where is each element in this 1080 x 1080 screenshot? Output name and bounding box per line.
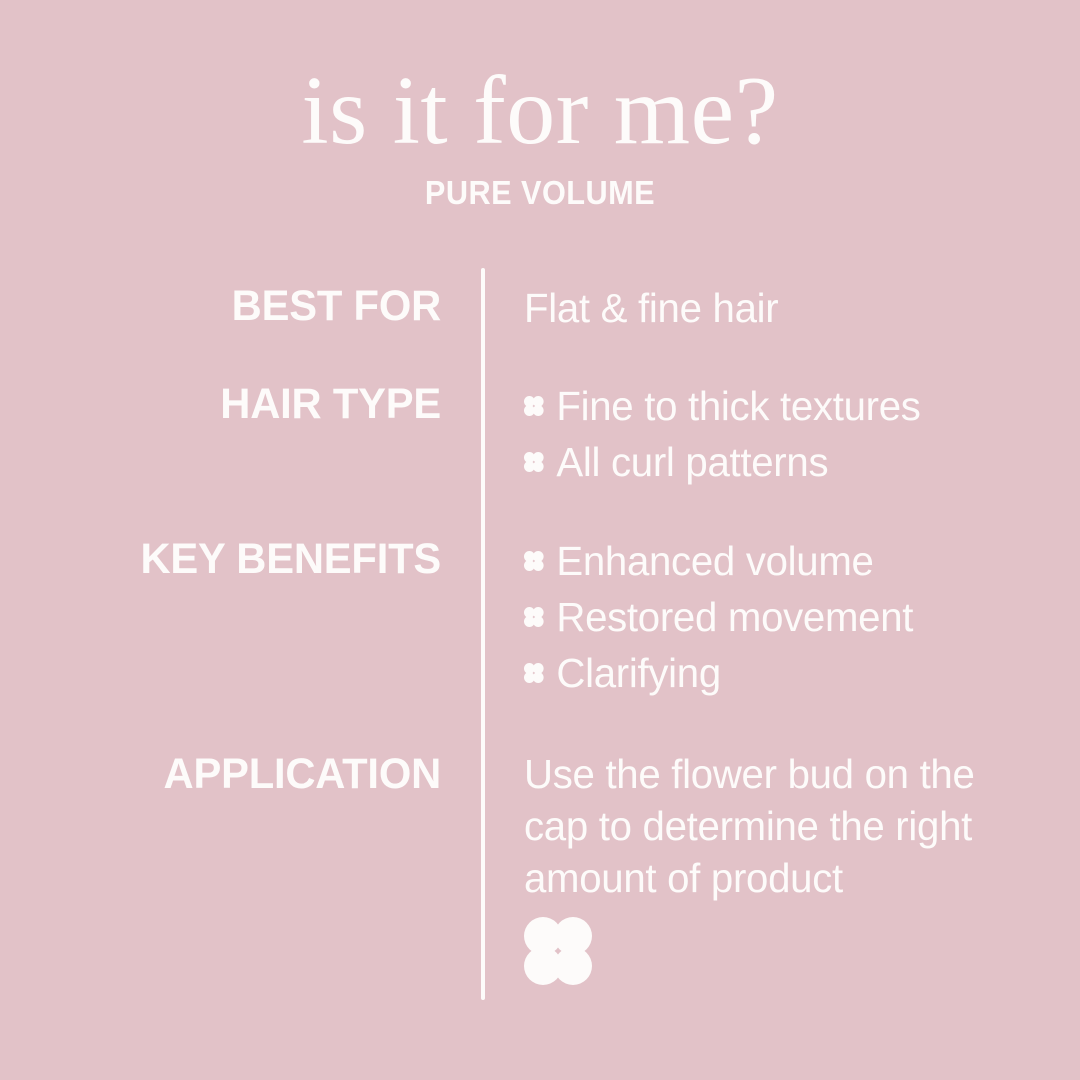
value-item: Flat & fine hair [524,280,1034,336]
value-item: Fine to thick textures [524,378,1034,434]
spec-label-best-for: BEST FOR [13,280,441,332]
value-text: Fine to thick textures [556,378,920,434]
value-text: Flat & fine hair [524,280,778,336]
spec-row-hair-type: HAIR TYPE Fine to thick textures All cur… [0,378,1080,490]
card-header: is it for me? PURE VOLUME [0,62,1080,209]
value-text: All curl patterns [556,434,828,490]
spec-values-best-for: Flat & fine hair [524,280,1044,336]
value-item: All curl patterns [524,434,1034,490]
value-item: Restored movement [524,589,1034,645]
value-item: Enhanced volume [524,533,1034,589]
page-title: is it for me? [0,62,1080,160]
value-text: Enhanced volume [556,533,873,589]
spec-values-key-benefits: Enhanced volume Restored movement Clarif… [524,533,1044,701]
four-petal-flower-logo [524,917,592,985]
flower-bullet-icon [524,663,544,683]
spec-row-key-benefits: KEY BENEFITS Enhanced volume Restored mo… [0,533,1080,701]
spec-row-application: APPLICATION Use the flower bud on the ca… [0,748,1080,904]
spec-label-application: APPLICATION [13,748,441,800]
is-it-for-me-card: is it for me? PURE VOLUME BEST FOR Flat … [0,0,1080,1080]
value-item: Clarifying [524,645,1034,701]
application-instructions: Use the flower bud on the cap to determi… [524,748,1024,904]
spec-values-application: Use the flower bud on the cap to determi… [524,748,1044,904]
flower-bullet-icon [524,396,544,416]
spec-values-hair-type: Fine to thick textures All curl patterns [524,378,1044,490]
value-text: Clarifying [556,645,721,701]
spec-label-key-benefits: KEY BENEFITS [13,533,441,585]
flower-bullet-icon [524,607,544,627]
product-name-subtitle: PURE VOLUME [38,176,1042,209]
value-text: Restored movement [556,589,913,645]
spec-label-hair-type: HAIR TYPE [13,378,441,430]
spec-row-best-for: BEST FOR Flat & fine hair [0,280,1080,336]
flower-bullet-icon [524,452,544,472]
flower-bullet-icon [524,551,544,571]
